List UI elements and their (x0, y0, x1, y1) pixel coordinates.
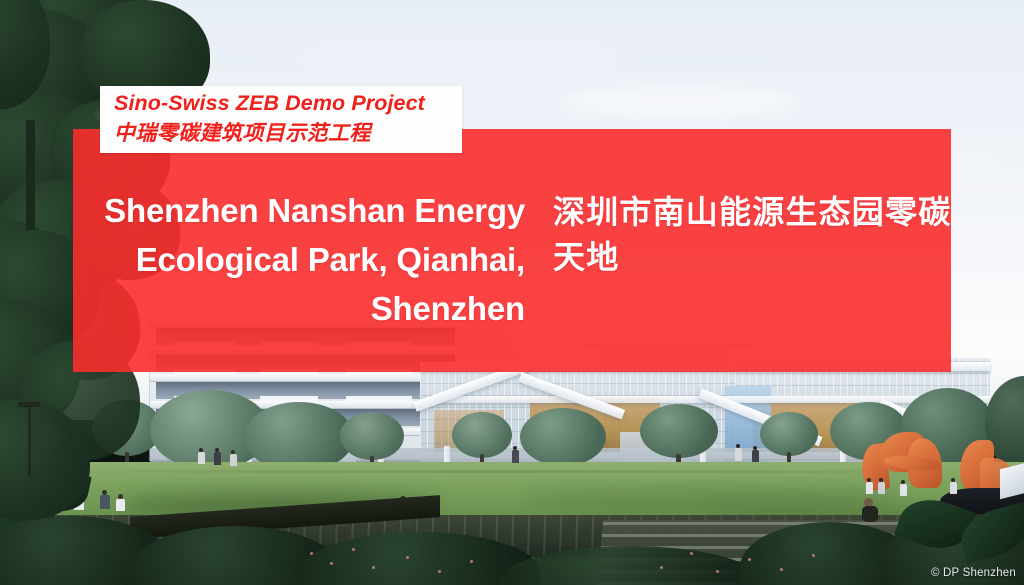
program-title-english: Sino-Swiss ZEB Demo Project (114, 91, 425, 116)
program-title-chinese: 中瑞零碳建筑项目示范工程 (114, 117, 371, 147)
project-title-english: Shenzhen Nanshan Energy Ecological Park,… (73, 186, 525, 333)
light-pole (28, 406, 31, 476)
cloud (300, 40, 620, 70)
light-fixture (18, 402, 40, 407)
cloud (560, 88, 800, 114)
image-credit: © DP Shenzhen (931, 567, 1016, 579)
program-banner: Sino-Swiss ZEB Demo Project 中瑞零碳建筑项目示范工程 (100, 86, 462, 153)
project-title-chinese: 深圳市南山能源生态园零碳天地 (553, 190, 953, 280)
piano-lid (1000, 463, 1024, 499)
slide-canvas: Shenzhen Nanshan Energy Ecological Park,… (0, 0, 1024, 585)
